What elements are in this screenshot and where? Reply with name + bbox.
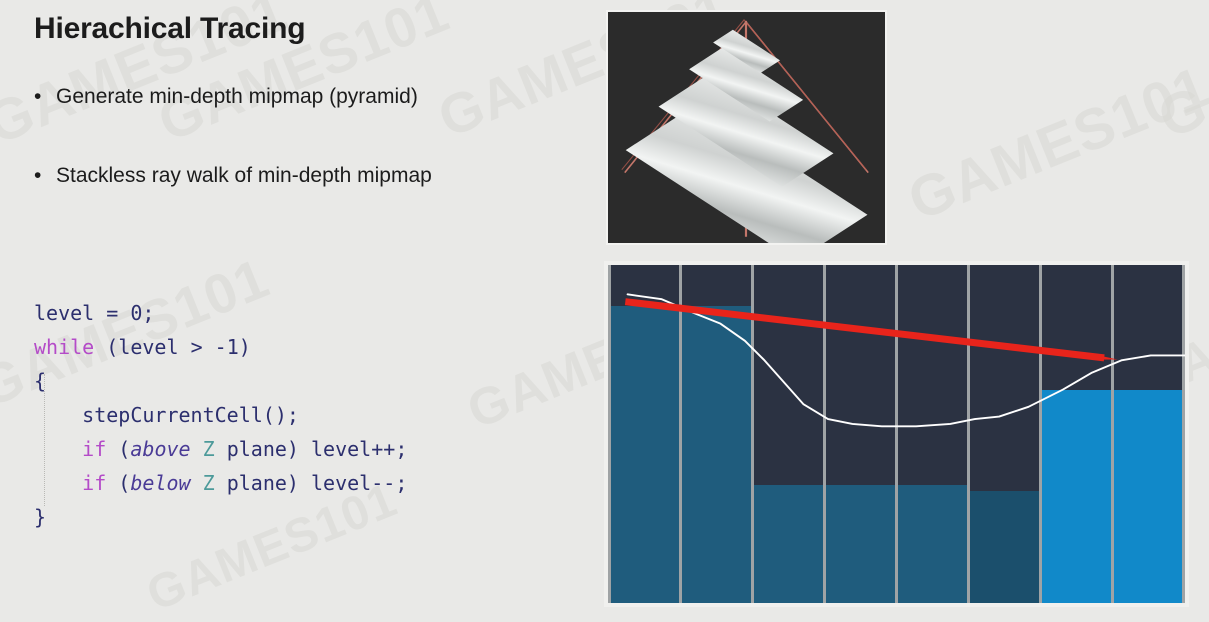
code-token: ( xyxy=(106,437,130,461)
code-token: below xyxy=(130,471,190,495)
code-token: (); xyxy=(263,403,299,427)
code-line-2: { xyxy=(34,364,407,398)
code-line-3: stepCurrentCell(); xyxy=(34,398,407,432)
code-line-0: level = 0; xyxy=(34,296,407,330)
bullet-list: • Generate min-depth mipmap (pyramid) • … xyxy=(34,84,574,242)
bullet-text: Stackless ray walk of min-depth mipmap xyxy=(56,163,432,189)
code-token: while xyxy=(34,335,94,359)
ray-shaft xyxy=(625,302,1104,358)
code-token: ( xyxy=(94,335,118,359)
code-token: level xyxy=(311,471,371,495)
code-line-4: if (above Z plane) level++; xyxy=(34,432,407,466)
code-token: = xyxy=(94,301,130,325)
code-token: } xyxy=(34,505,46,529)
code-token: -1 xyxy=(215,335,239,359)
code-token xyxy=(34,437,82,461)
bullet-marker-icon: • xyxy=(34,163,56,189)
heightfield-canvas xyxy=(608,265,1185,603)
heightfield-raywalk-figure xyxy=(604,261,1189,607)
code-token: ) xyxy=(287,471,311,495)
code-token xyxy=(34,403,82,427)
code-token: Z xyxy=(203,437,215,461)
heightfield-overlay xyxy=(608,265,1185,509)
code-token: ( xyxy=(106,471,130,495)
bullet-marker-icon: • xyxy=(34,84,56,110)
code-token xyxy=(191,437,203,461)
code-token: plane xyxy=(215,471,287,495)
page-title: Hierachical Tracing xyxy=(34,12,305,46)
code-line-1: while (level > -1) xyxy=(34,330,407,364)
pyramid-render-canvas xyxy=(608,12,885,243)
list-item: • Stackless ray walk of min-depth mipmap xyxy=(34,163,574,189)
code-token: plane xyxy=(215,437,287,461)
watermark-5: GAMES101 xyxy=(1149,0,1209,152)
list-item: • Generate min-depth mipmap (pyramid) xyxy=(34,84,574,110)
code-token xyxy=(191,471,203,495)
code-token: if xyxy=(82,471,106,495)
code-token: level xyxy=(311,437,371,461)
code-token: { xyxy=(34,369,46,393)
watermark-4: GAMES101 xyxy=(899,53,1209,234)
code-token: ++; xyxy=(371,437,407,461)
code-token: ) xyxy=(239,335,251,359)
code-token: level xyxy=(34,301,94,325)
code-token: --; xyxy=(371,471,407,495)
mipmap-pyramid-figure xyxy=(606,10,887,245)
slide-root: { "slide": { "title": "Hierachical Traci… xyxy=(0,0,1209,614)
code-line-6: } xyxy=(34,500,407,534)
code-token xyxy=(34,471,82,495)
code-token: 0 xyxy=(130,301,142,325)
code-token: level xyxy=(118,335,178,359)
code-line-5: if (below Z plane) level--; xyxy=(34,466,407,500)
bullet-text: Generate min-depth mipmap (pyramid) xyxy=(56,84,418,110)
code-token: ; xyxy=(142,301,154,325)
code-token: above xyxy=(130,437,190,461)
code-token: ) xyxy=(287,437,311,461)
code-block: level = 0;while (level > -1){ stepCurren… xyxy=(34,296,407,534)
code-token: > xyxy=(179,335,215,359)
code-token: if xyxy=(82,437,106,461)
code-token: stepCurrentCell xyxy=(82,403,263,427)
code-token: Z xyxy=(203,471,215,495)
